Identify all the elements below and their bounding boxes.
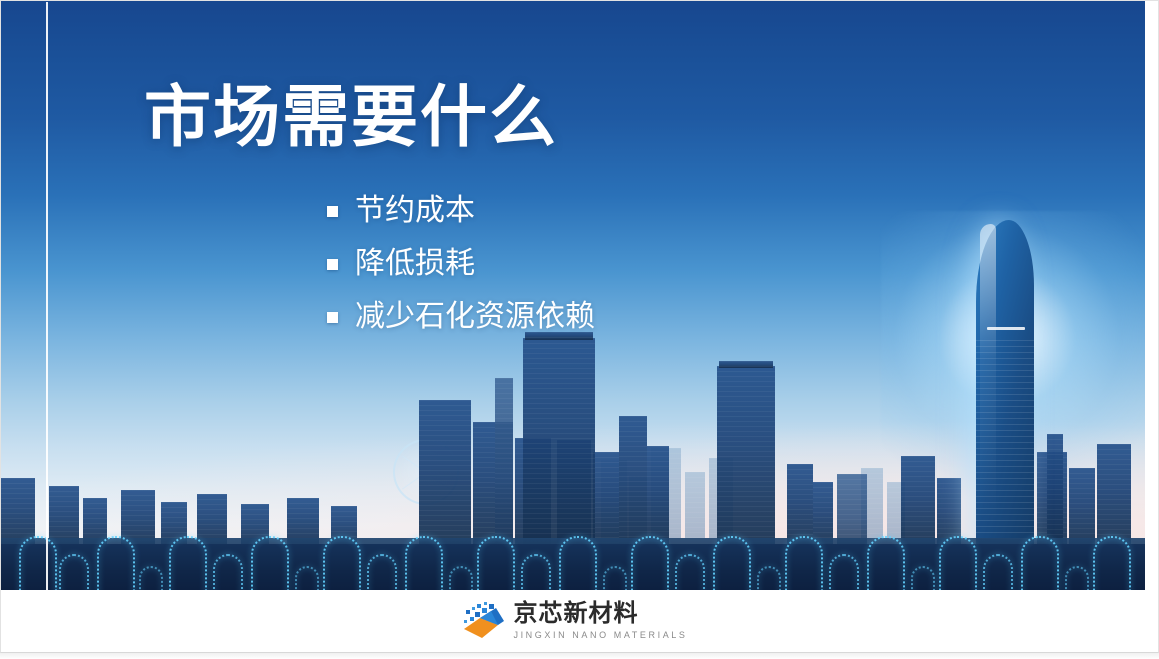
slide-title: 市场需要什么	[144, 83, 558, 153]
list-item: 减少石化资源依赖	[327, 299, 595, 335]
square-bullet-icon	[327, 206, 338, 217]
square-bullet-icon	[327, 259, 338, 270]
presentation-slide: 市场需要什么 节约成本 降低损耗 减少石化资源依赖	[0, 0, 1159, 659]
bullet-list: 节约成本 降低损耗 减少石化资源依赖	[327, 193, 595, 352]
list-item-label: 降低损耗	[355, 246, 475, 282]
slide-background-image: 市场需要什么 节约成本 降低损耗 减少石化资源依赖	[1, 1, 1145, 590]
slide-footer: 京芯新材料 JINGXIN NANO MATERIALS	[1, 590, 1145, 652]
list-item: 降低损耗	[327, 246, 595, 282]
list-item-label: 减少石化资源依赖	[355, 299, 595, 335]
city-skyline	[1, 340, 1145, 590]
logo-wordmark: 京芯新材料 JINGXIN NANO MATERIALS	[513, 602, 687, 640]
company-logo: 京芯新材料 JINGXIN NANO MATERIALS	[458, 601, 687, 641]
foreground-band	[1, 544, 1145, 590]
vertical-accent-line	[46, 2, 48, 590]
list-item-label: 节约成本	[355, 193, 475, 229]
logo-company-name-en: JINGXIN NANO MATERIALS	[513, 630, 687, 640]
jingxin-pixel-rhombus-logo-icon	[458, 601, 504, 641]
tower-sign-band	[987, 327, 1025, 330]
list-item: 节约成本	[327, 193, 595, 229]
slide-shadow	[0, 653, 1159, 659]
logo-company-name-cn: 京芯新材料	[513, 602, 687, 626]
curved-skyscraper	[976, 220, 1034, 550]
square-bullet-icon	[327, 312, 338, 323]
